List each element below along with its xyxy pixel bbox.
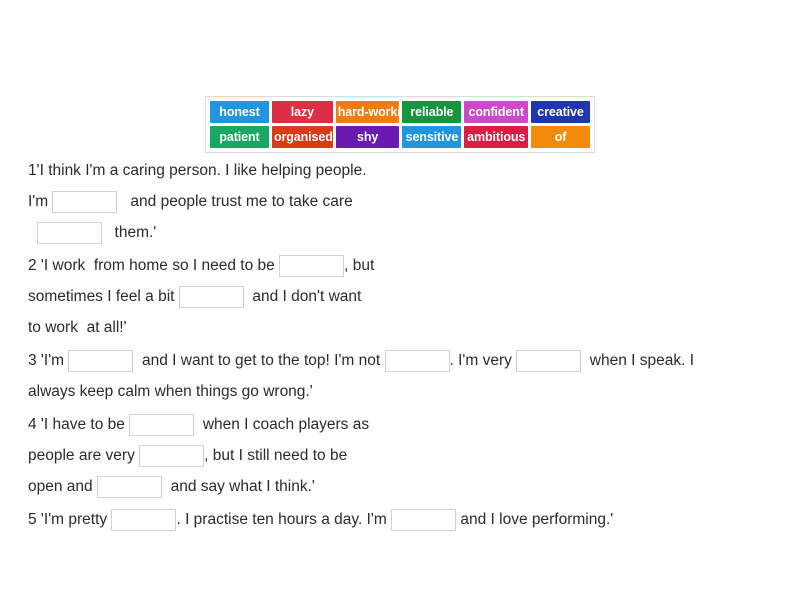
sentence-text: and I want to get to the top! I'm not xyxy=(133,352,384,370)
item-5: 5 'I'm pretty . I practise ten hours a d… xyxy=(28,504,788,535)
word-tile-hard-working[interactable]: hard-working xyxy=(336,101,400,123)
item-1: 1'I think I'm a caring person. I like he… xyxy=(28,155,788,248)
sentence-text: 2 'I work from home so I need to be xyxy=(28,257,279,275)
sentence-line: I'm and people trust me to take care xyxy=(28,186,788,217)
word-tile-lazy[interactable]: lazy xyxy=(272,101,333,123)
answer-blank-12[interactable] xyxy=(391,509,456,531)
sentence-text: , but xyxy=(344,257,374,275)
answer-blank-9[interactable] xyxy=(139,445,204,467)
sentence-text: 4 'I have to be xyxy=(28,416,129,434)
answer-blank-10[interactable] xyxy=(97,476,162,498)
sentence-line: sometimes I feel a bit and I don't want xyxy=(28,281,788,312)
sentence-text: and people trust me to take care xyxy=(117,193,352,211)
word-tile-patient[interactable]: patient xyxy=(210,126,269,148)
worksheet-page: honestlazyhard-workingreliableconfidentc… xyxy=(0,0,800,600)
sentence-text xyxy=(28,224,37,242)
sentence-text: 1'I think I'm a caring person. I like he… xyxy=(28,162,367,180)
sentence-text: 5 'I'm pretty xyxy=(28,511,111,529)
sentence-text: I'm xyxy=(28,193,52,211)
word-tile-honest[interactable]: honest xyxy=(210,101,269,123)
answer-blank-4[interactable] xyxy=(179,286,244,308)
word-tile-confident[interactable]: confident xyxy=(464,101,528,123)
sentence-line: people are very , but I still need to be xyxy=(28,440,788,471)
sentence-text: always keep calm when things go wrong.' xyxy=(28,383,313,401)
sentence-text: to work at all!' xyxy=(28,319,127,337)
word-tile-organised[interactable]: organised xyxy=(272,126,333,148)
word-tile-ambitious[interactable]: ambitious xyxy=(464,126,528,148)
sentence-text: and I love performing.' xyxy=(456,511,613,529)
sentence-text: them.' xyxy=(102,224,157,242)
sentence-line: 5 'I'm pretty . I practise ten hours a d… xyxy=(28,504,788,535)
item-2: 2 'I work from home so I need to be , bu… xyxy=(28,250,788,343)
sentence-text: and I don't want xyxy=(244,288,362,306)
item-3: 3 'I'm and I want to get to the top! I'm… xyxy=(28,345,788,407)
answer-blank-8[interactable] xyxy=(129,414,194,436)
answer-blank-6[interactable] xyxy=(385,350,450,372)
sentence-line: to work at all!' xyxy=(28,312,788,343)
sentence-text: open and xyxy=(28,478,97,496)
sentence-line: 1'I think I'm a caring person. I like he… xyxy=(28,155,788,186)
sentence-line: them.' xyxy=(28,217,788,248)
sentence-text: . I practise ten hours a day. I'm xyxy=(176,511,391,529)
sentence-text: people are very xyxy=(28,447,139,465)
answer-blank-2[interactable] xyxy=(37,222,102,244)
sentence-line: 2 'I work from home so I need to be , bu… xyxy=(28,250,788,281)
word-tile-of[interactable]: of xyxy=(531,126,590,148)
sentence-line: 3 'I'm and I want to get to the top! I'm… xyxy=(28,345,788,376)
sentence-text: , but I still need to be xyxy=(204,447,347,465)
word-tile-reliable[interactable]: reliable xyxy=(402,101,461,123)
word-bank: honestlazyhard-workingreliableconfidentc… xyxy=(205,96,595,153)
answer-blank-1[interactable] xyxy=(52,191,117,213)
word-tile-sensitive[interactable]: sensitive xyxy=(402,126,461,148)
sentence-line: open and and say what I think.' xyxy=(28,471,788,502)
sentence-text: when I coach players as xyxy=(194,416,369,434)
sentence-line: 4 'I have to be when I coach players as xyxy=(28,409,788,440)
sentence-text: when I speak. I xyxy=(581,352,694,370)
sentence-line: always keep calm when things go wrong.' xyxy=(28,376,788,407)
word-tile-shy[interactable]: shy xyxy=(336,126,400,148)
item-4: 4 'I have to be when I coach players asp… xyxy=(28,409,788,502)
sentence-text: . I'm very xyxy=(450,352,517,370)
answer-blank-5[interactable] xyxy=(68,350,133,372)
word-bank-row: patientorganisedshysensitiveambitiousof xyxy=(210,126,590,148)
answer-blank-3[interactable] xyxy=(279,255,344,277)
sentence-text: and say what I think.' xyxy=(162,478,315,496)
answer-blank-11[interactable] xyxy=(111,509,176,531)
sentence-text: sometimes I feel a bit xyxy=(28,288,179,306)
gap-fill-items: 1'I think I'm a caring person. I like he… xyxy=(28,155,788,537)
word-tile-creative[interactable]: creative xyxy=(531,101,590,123)
word-bank-row: honestlazyhard-workingreliableconfidentc… xyxy=(210,101,590,123)
sentence-text: 3 'I'm xyxy=(28,352,68,370)
answer-blank-7[interactable] xyxy=(516,350,581,372)
